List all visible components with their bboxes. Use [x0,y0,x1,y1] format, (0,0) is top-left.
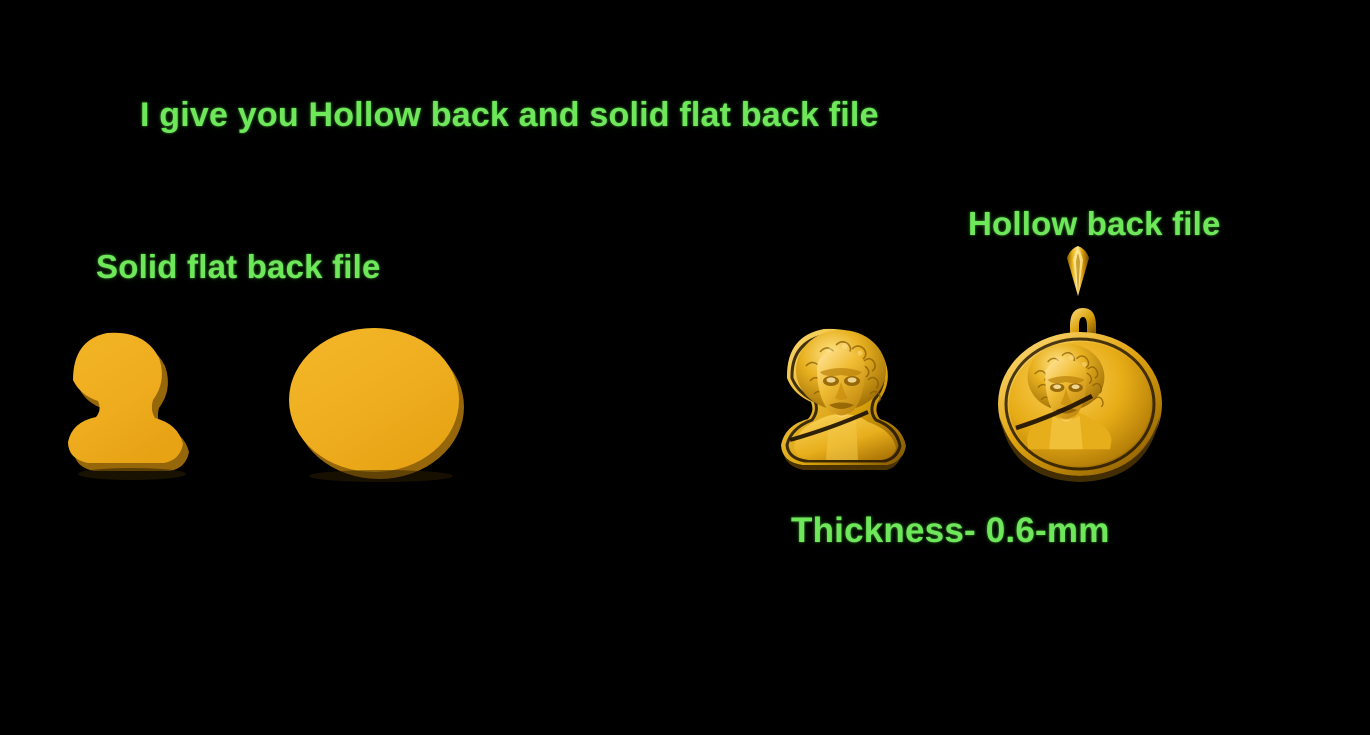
arrow-down-icon [1053,244,1103,296]
preview-canvas: I give you Hollow back and solid flat ba… [0,0,1370,735]
hollow-back-bust-relief [772,318,912,483]
hollow-back-medallion-pendant [988,296,1173,481]
hollow-back-label: Hollow back file [968,205,1221,243]
page-title: I give you Hollow back and solid flat ba… [140,96,879,135]
solid-flat-back-disc-shape [286,318,476,483]
solid-flat-back-label: Solid flat back file [96,248,381,286]
pendant-bail [1070,308,1096,334]
solid-flat-back-bust-shape [60,318,210,488]
thickness-label: Thickness- 0.6-mm [791,511,1110,551]
